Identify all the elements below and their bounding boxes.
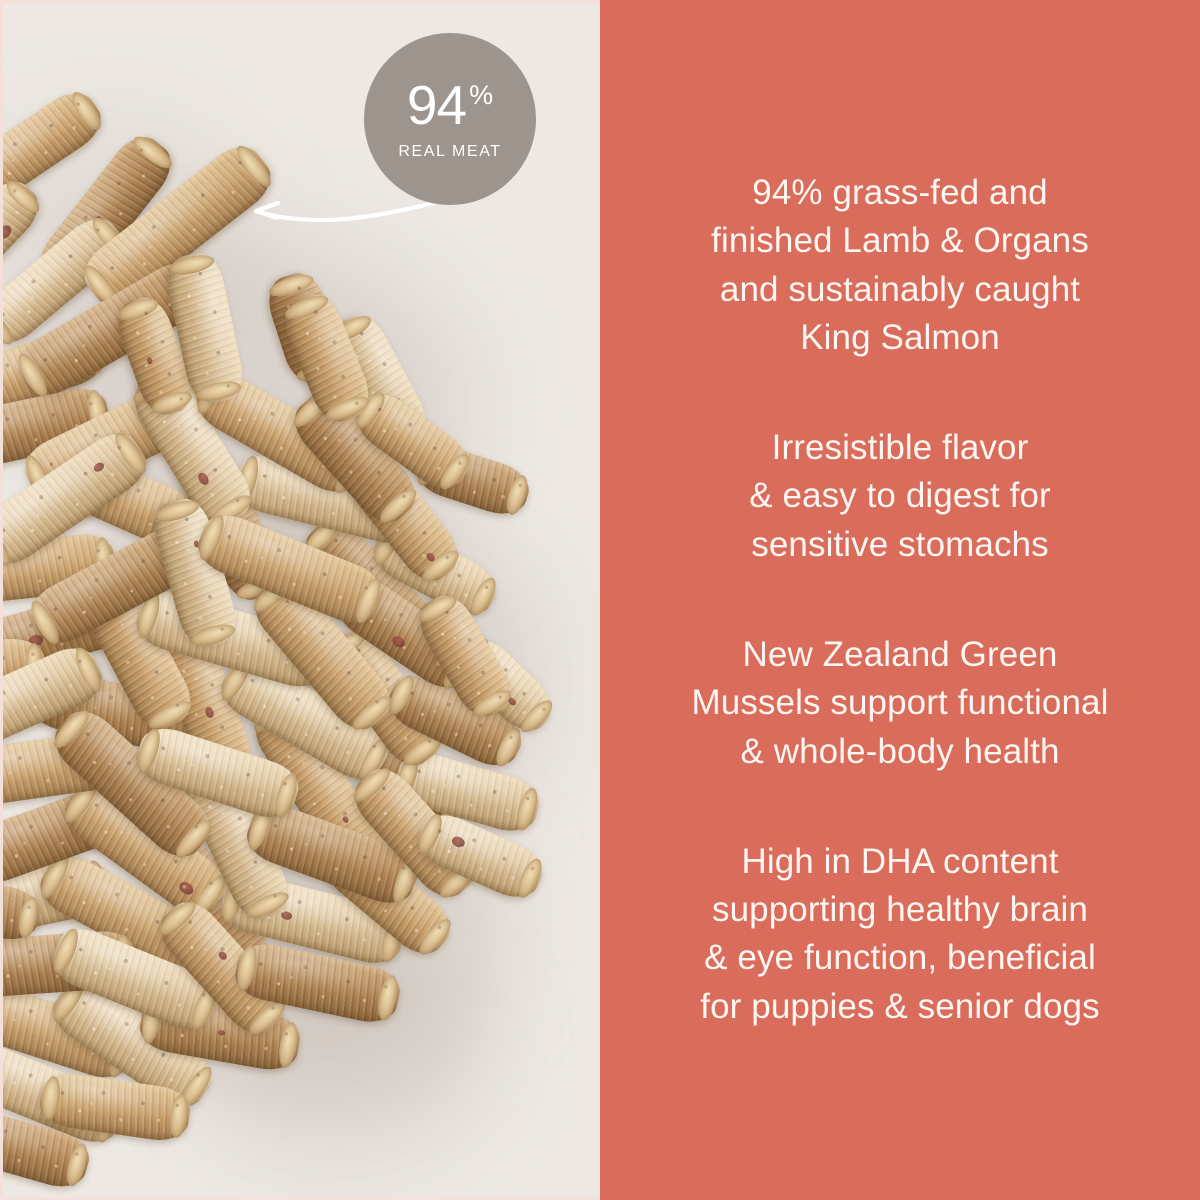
kibble-end-cap: [466, 574, 501, 620]
kibble-end-cap: [67, 88, 106, 134]
benefit-line: New Zealand Green: [624, 631, 1176, 679]
top-edge-hairline: [0, 0, 600, 3]
kibble-meat-fleck: [425, 552, 436, 563]
kibble-end-cap: [167, 1093, 190, 1139]
kibble-meat-fleck: [204, 706, 215, 719]
kibble-end-cap: [414, 914, 455, 959]
kibble-end-cap: [276, 1021, 301, 1069]
badge-percentage: 94 %: [407, 78, 493, 133]
kibble-meat-fleck: [146, 356, 153, 364]
benefits-panel: 94% grass-fed and finished Lamb & Organs…: [600, 0, 1200, 1200]
benefit-line: & eye function, beneficial: [624, 934, 1176, 982]
kibble-meat-fleck: [450, 835, 466, 849]
badge-number: 94: [407, 78, 466, 133]
product-image-panel: 94 % REAL MEAT: [0, 0, 600, 1200]
badge-sublabel: REAL MEAT: [398, 143, 501, 161]
kibble-meat-fleck: [177, 879, 195, 897]
kibble-meat-fleck: [92, 461, 106, 474]
benefit-block-digestion: Irresistible flavor & easy to digest for…: [624, 424, 1176, 569]
benefit-line: High in DHA content: [624, 838, 1176, 886]
benefit-line: Mussels support functional: [624, 679, 1176, 727]
kibble-end-cap: [63, 1141, 92, 1188]
kibble-end-cap: [492, 724, 526, 770]
benefit-line: 94% grass-fed and: [624, 169, 1176, 217]
left-edge-hairline: [0, 0, 3, 1200]
benefit-line: supporting healthy brain: [624, 886, 1176, 934]
kibble-end-cap: [503, 472, 532, 516]
kibble-end-cap: [130, 131, 177, 173]
benefit-line: Irresistible flavor: [624, 424, 1176, 472]
benefit-line: finished Lamb & Organs: [624, 217, 1176, 265]
kibble-meat-fleck: [218, 1030, 226, 1036]
benefit-block-ingredients: 94% grass-fed and finished Lamb & Organs…: [624, 169, 1176, 362]
kibble-end-cap: [513, 785, 542, 832]
kibble-meat-fleck: [341, 816, 349, 825]
kibble-end-cap: [415, 591, 460, 627]
kibble-meat-fleck: [217, 950, 228, 961]
kibble-end-cap: [513, 855, 546, 901]
product-feature-graphic: 94 % REAL MEAT 94% grass-fed and finishe…: [0, 0, 1200, 1200]
kibble-meat-fleck: [280, 911, 293, 921]
benefit-line: & whole-body health: [624, 728, 1176, 776]
kibble-end-cap: [517, 695, 558, 736]
kibble-meat-fleck: [196, 471, 211, 487]
benefit-block-dha: High in DHA content supporting healthy b…: [624, 838, 1176, 1031]
badge-percent-sign: %: [469, 82, 493, 109]
real-meat-badge: 94 % REAL MEAT: [364, 33, 536, 205]
kibble-end-cap: [71, 645, 106, 695]
benefit-line: for puppies & senior dogs: [624, 983, 1176, 1031]
benefit-line: and sustainably caught: [624, 266, 1176, 314]
benefit-block-mussels: New Zealand Green Mussels support functi…: [624, 631, 1176, 776]
benefit-line: King Salmon: [624, 314, 1176, 362]
benefit-line: & easy to digest for: [624, 472, 1176, 520]
benefit-line: sensitive stomachs: [624, 521, 1176, 569]
kibble-meat-fleck: [390, 634, 406, 649]
kibble-end-cap: [375, 974, 401, 1022]
